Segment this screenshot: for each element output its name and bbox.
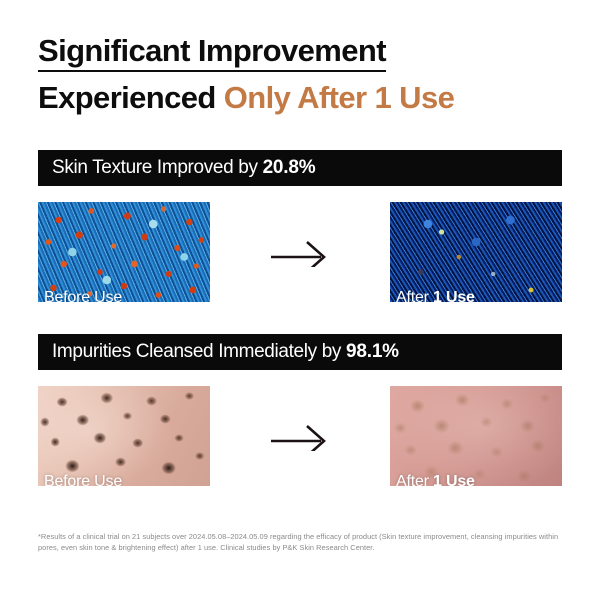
after-photo-label-value: 1 Use (433, 473, 475, 486)
after-photo-pores: After 1 Use (390, 386, 562, 486)
banner-value: 20.8% (263, 157, 316, 178)
before-photo-pores: Before Use (38, 386, 210, 486)
after-photo-label: After 1 Use (396, 290, 475, 302)
banner-value: 98.1% (346, 341, 399, 362)
after-photo-label-prefix: After (396, 473, 433, 486)
after-photo-label-prefix: After (396, 289, 433, 302)
banner-text: Impurities Cleansed Immediately by 98.1% (52, 341, 399, 363)
section-banner: Impurities Cleansed Immediately by 98.1% (38, 334, 562, 370)
skin-texture-heatmap-after (390, 202, 562, 302)
after-photo-skin-texture: After 1 Use (390, 202, 562, 302)
arrow-right-icon (262, 421, 338, 451)
after-photo-label-value: 1 Use (433, 289, 475, 302)
section-banner: Skin Texture Improved by 20.8% (38, 150, 562, 186)
infographic-page: Significant Improvement Experienced Only… (0, 0, 600, 600)
after-photo-label: After 1 Use (396, 474, 475, 486)
headline-accent-text: Only After 1 Use (224, 80, 454, 115)
headline-line-2-prefix: Experienced (38, 80, 224, 115)
skin-texture-heatmap-before (38, 202, 210, 302)
before-photo-label: Before Use (44, 290, 122, 302)
pore-closeup-before (38, 386, 210, 486)
arrow-right-icon (262, 237, 338, 267)
before-after-comparison: Before Use After 1 Use (38, 382, 562, 490)
section-skin-texture: Skin Texture Improved by 20.8% Before Us… (38, 150, 562, 306)
before-photo-skin-texture: Before Use (38, 202, 210, 302)
banner-label: Impurities Cleansed Immediately by (52, 341, 346, 362)
before-after-comparison: Before Use After 1 Use (38, 198, 562, 306)
headline-line-1: Significant Improvement (38, 33, 386, 72)
headline-line-2: Experienced Only After 1 Use (38, 80, 568, 117)
footnote-disclaimer: *Results of a clinical trial on 21 subje… (38, 531, 566, 554)
before-photo-label: Before Use (44, 474, 122, 486)
headline-block: Significant Improvement Experienced Only… (38, 33, 568, 116)
pore-closeup-after (390, 386, 562, 486)
banner-text: Skin Texture Improved by 20.8% (52, 157, 315, 179)
section-impurities: Impurities Cleansed Immediately by 98.1%… (38, 334, 562, 490)
banner-label: Skin Texture Improved by (52, 157, 263, 178)
